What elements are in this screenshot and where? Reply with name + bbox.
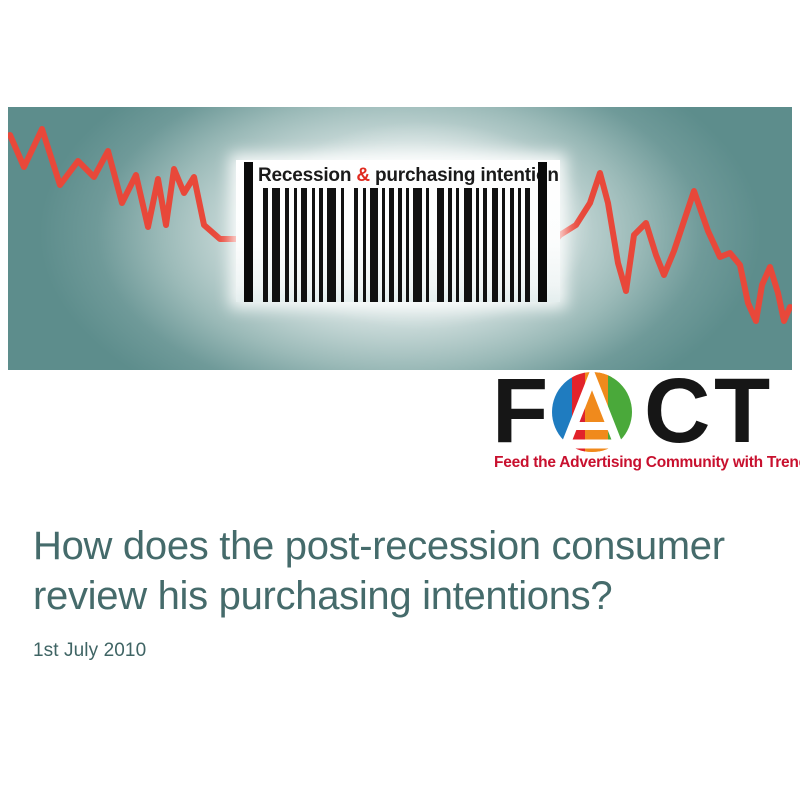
slide-title: How does the post-recession consumer rev… (33, 521, 763, 621)
fact-a-roundel-icon (550, 372, 634, 452)
barcode-graphic: Recession & purchasing intention (236, 160, 560, 302)
fact-wordmark: F (492, 368, 792, 454)
chart-line-left (10, 129, 270, 239)
fact-tagline: Feed the Advertising Community with Tren… (494, 454, 792, 472)
barcode-caption-after: purchasing intention (370, 165, 559, 186)
barcode-caption-ampersand: & (356, 165, 370, 186)
barcode-caption: Recession & purchasing intention (258, 163, 538, 189)
barcode-caption-before: Recession (258, 165, 356, 186)
fact-letter-f: F (492, 368, 546, 454)
barcode-bars (236, 188, 560, 302)
slide-date: 1st July 2010 (33, 639, 763, 663)
title-block: How does the post-recession consumer rev… (33, 521, 763, 663)
fact-logo: F (492, 368, 792, 480)
fact-letter-t: T (714, 368, 768, 454)
fact-letter-c: C (644, 368, 708, 454)
